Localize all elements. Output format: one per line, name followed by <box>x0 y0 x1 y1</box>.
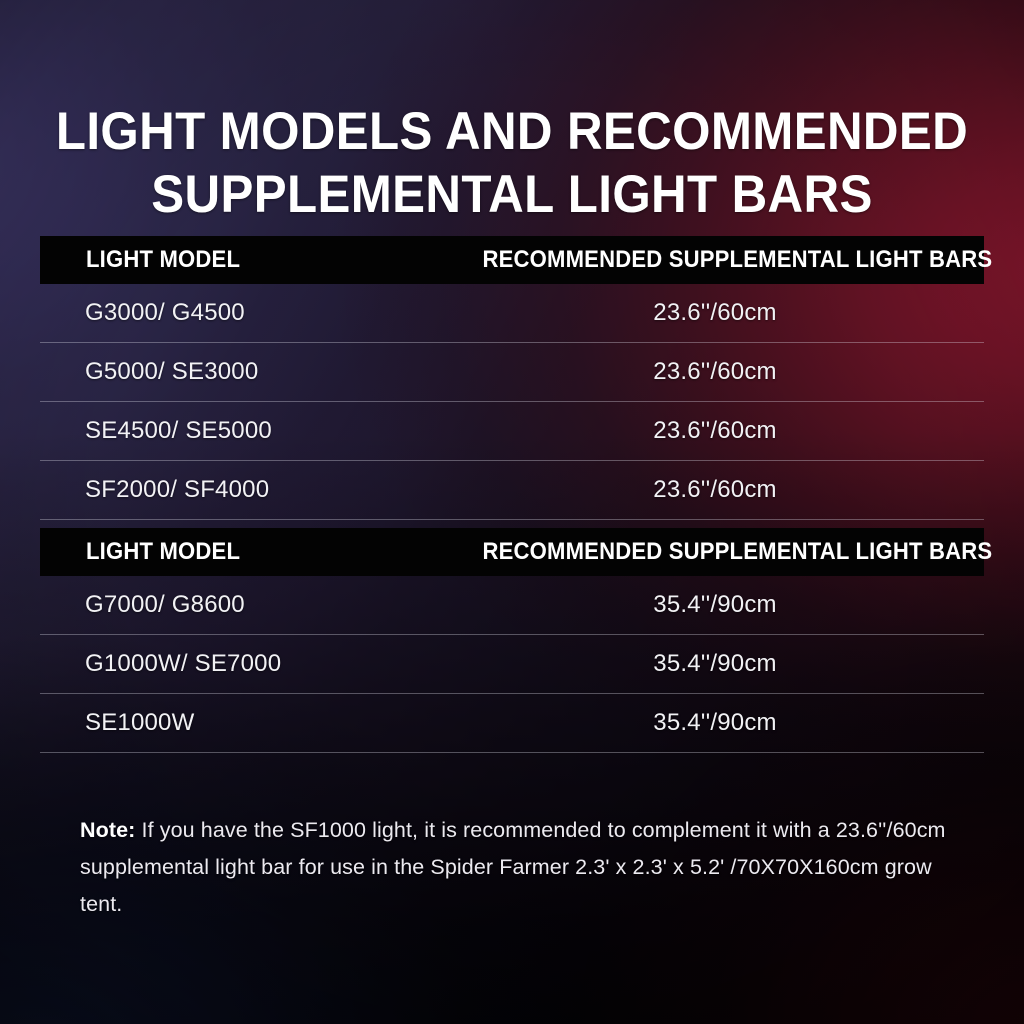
footnote: Note: If you have the SF1000 light, it i… <box>80 812 976 923</box>
infographic-page: LIGHT MODELS AND RECOMMENDED SUPPLEMENTA… <box>0 0 1024 1024</box>
table-2-header-light-model: LIGHT MODEL <box>86 538 240 566</box>
light-bar-table-2: LIGHT MODEL RECOMMENDED SUPPLEMENTAL LIG… <box>40 528 984 753</box>
cell-light-model: G7000/ G8600 <box>85 576 245 634</box>
table-2-header-row: LIGHT MODEL RECOMMENDED SUPPLEMENTAL LIG… <box>40 528 984 576</box>
table-2-header-recommended-bars: RECOMMENDED SUPPLEMENTAL LIGHT BARS <box>482 538 953 566</box>
table-row: SE1000W 35.4''/90cm <box>40 694 984 753</box>
table-1-header-row: LIGHT MODEL RECOMMENDED SUPPLEMENTAL LIG… <box>40 236 984 284</box>
cell-recommended-bars: 35.4''/90cm <box>460 576 970 634</box>
table-row: G3000/ G4500 23.6''/60cm <box>40 284 984 343</box>
cell-light-model: G1000W/ SE7000 <box>85 635 281 693</box>
cell-light-model: SE4500/ SE5000 <box>85 402 272 460</box>
table-row: SF2000/ SF4000 23.6''/60cm <box>40 461 984 520</box>
table-row: G5000/ SE3000 23.6''/60cm <box>40 343 984 402</box>
cell-light-model: G3000/ G4500 <box>85 284 245 342</box>
page-title: LIGHT MODELS AND RECOMMENDED SUPPLEMENTA… <box>36 100 988 226</box>
page-content: LIGHT MODELS AND RECOMMENDED SUPPLEMENTA… <box>0 0 1024 1024</box>
cell-recommended-bars: 23.6''/60cm <box>460 284 970 342</box>
table-row: SE4500/ SE5000 23.6''/60cm <box>40 402 984 461</box>
cell-recommended-bars: 35.4''/90cm <box>460 694 970 752</box>
footnote-body: If you have the SF1000 light, it is reco… <box>80 818 946 916</box>
footnote-label: Note: <box>80 818 135 842</box>
table-row: G7000/ G8600 35.4''/90cm <box>40 576 984 635</box>
cell-recommended-bars: 35.4''/90cm <box>460 635 970 693</box>
light-bar-table-1: LIGHT MODEL RECOMMENDED SUPPLEMENTAL LIG… <box>40 236 984 520</box>
cell-light-model: G5000/ SE3000 <box>85 343 258 401</box>
table-1-header-light-model: LIGHT MODEL <box>86 246 240 274</box>
table-1-header-recommended-bars: RECOMMENDED SUPPLEMENTAL LIGHT BARS <box>482 246 953 274</box>
cell-light-model: SE1000W <box>85 694 194 752</box>
cell-recommended-bars: 23.6''/60cm <box>460 343 970 401</box>
cell-recommended-bars: 23.6''/60cm <box>460 402 970 460</box>
table-row: G1000W/ SE7000 35.4''/90cm <box>40 635 984 694</box>
cell-recommended-bars: 23.6''/60cm <box>460 461 970 519</box>
cell-light-model: SF2000/ SF4000 <box>85 461 269 519</box>
